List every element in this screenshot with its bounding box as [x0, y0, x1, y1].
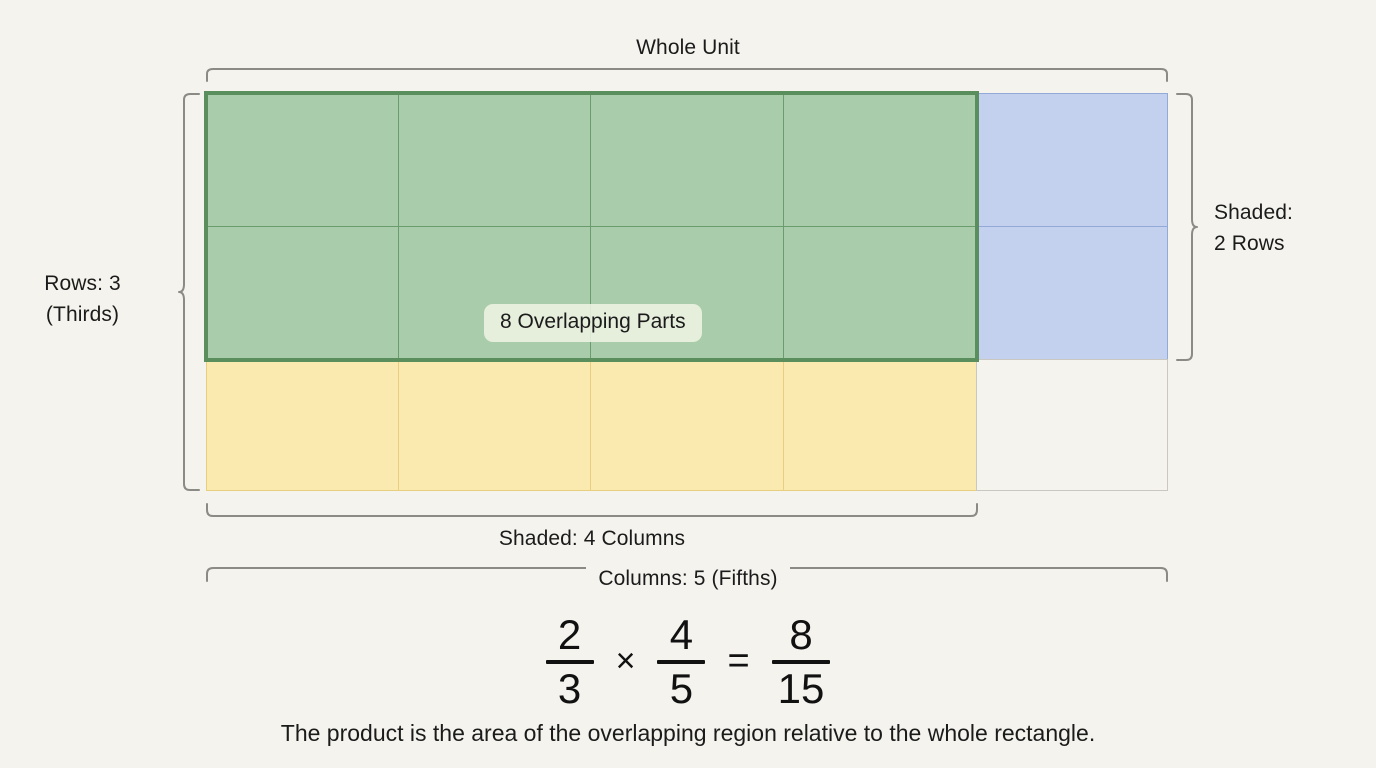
fraction-two-thirds: 2 3 — [546, 612, 594, 712]
overlap-parts-chip: 8 Overlapping Parts — [484, 304, 702, 342]
multiply-operator: × — [616, 644, 636, 680]
shaded-columns-label: Shaded: 4 Columns — [206, 524, 978, 554]
shaded-rows-brace — [1176, 93, 1198, 361]
columns-label-text: Columns: 5 (Fifths) — [586, 567, 789, 590]
fraction-four-fifths: 4 5 — [657, 612, 705, 712]
caption: The product is the area of the overlappi… — [0, 718, 1376, 748]
fraction-result: 8 15 — [772, 612, 831, 712]
rows-brace — [178, 93, 200, 491]
shaded-columns-bracket — [206, 503, 978, 517]
fraction-numerator: 4 — [664, 612, 699, 660]
fraction-denominator: 15 — [772, 664, 831, 712]
columns-label: Columns: 5 (Fifths) — [0, 564, 1376, 594]
grid-cell-r2c4[interactable] — [783, 226, 977, 360]
grid-cell-r1c1[interactable] — [206, 93, 399, 227]
grid-cell-r1c5[interactable] — [976, 93, 1168, 227]
fraction-numerator: 2 — [552, 612, 587, 660]
fraction-denominator: 5 — [664, 664, 699, 712]
whole-unit-label: Whole Unit — [0, 33, 1376, 63]
whole-unit-bracket — [206, 68, 1168, 82]
equals-operator: = — [727, 644, 749, 680]
grid-cell-r1c4[interactable] — [783, 93, 977, 227]
grid-cell-r2c5[interactable] — [976, 226, 1168, 360]
grid-cell-r2c1[interactable] — [206, 226, 399, 360]
shaded-rows-label: Shaded: 2 Rows — [1214, 197, 1374, 259]
rows-label: Rows: 3 (Thirds) — [0, 268, 165, 330]
area-model-grid: 8 Overlapping Parts — [206, 93, 1168, 491]
grid-cell-r3c3[interactable] — [590, 359, 784, 491]
grid-cell-r3c1[interactable] — [206, 359, 399, 491]
grid-cell-r3c5[interactable] — [976, 359, 1168, 491]
diagram-canvas: Whole Unit Rows: 3 (Thirds) — [0, 0, 1376, 768]
grid-cell-r1c2[interactable] — [398, 93, 591, 227]
fraction-denominator: 3 — [552, 664, 587, 712]
grid-cell-r1c3[interactable] — [590, 93, 784, 227]
equation: 2 3 × 4 5 = 8 15 — [0, 612, 1376, 712]
fraction-numerator: 8 — [783, 612, 818, 660]
grid-cell-r3c2[interactable] — [398, 359, 591, 491]
grid-cell-r3c4[interactable] — [783, 359, 977, 491]
